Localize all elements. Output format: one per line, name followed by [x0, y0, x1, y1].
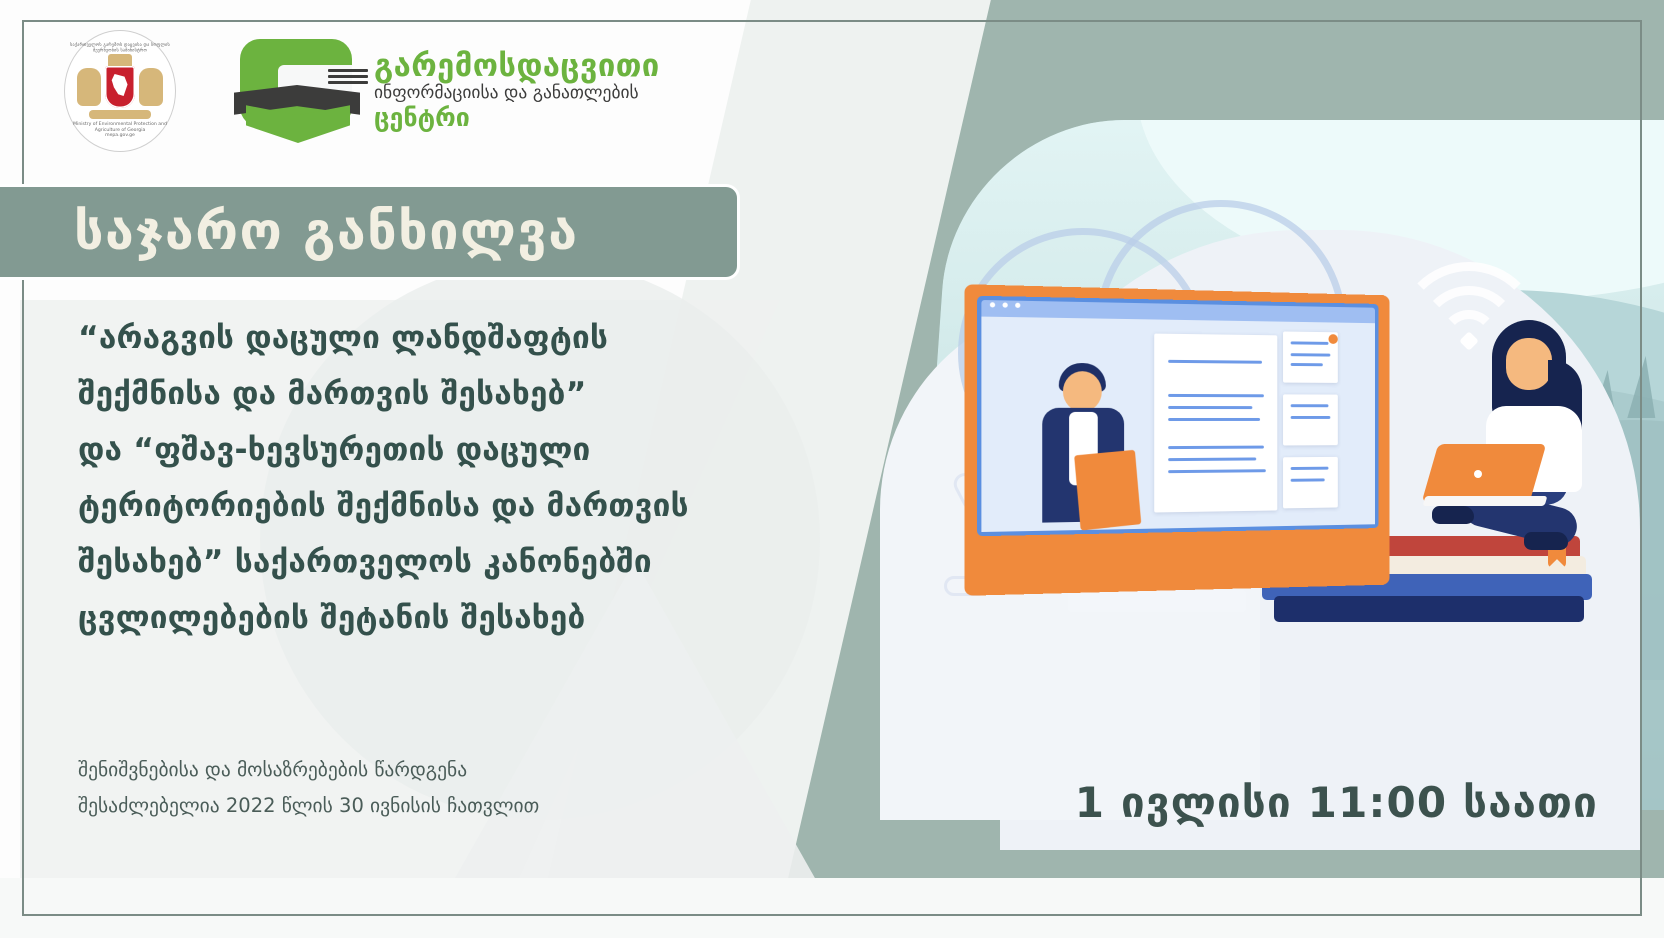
eiec-logo-mark [232, 39, 362, 143]
document-text-line [1168, 457, 1256, 461]
emblem-scroll [89, 110, 151, 119]
submission-note-line-1: შენიშვნებისა და მოსაზრებების წარდგენა [78, 752, 718, 788]
woman-face [1506, 338, 1552, 390]
document-text-line [1291, 404, 1329, 407]
document-card [1283, 457, 1338, 509]
woman-shoe [1524, 532, 1568, 550]
illustration [940, 250, 1664, 670]
window-dot-icon [1003, 302, 1008, 307]
emblem-lion-left [77, 68, 101, 106]
document-text-line [1168, 406, 1252, 409]
document-card [1283, 394, 1338, 445]
document-text-line [1168, 418, 1260, 421]
title-banner-wrap: საჯარო განხილვა [0, 184, 740, 280]
laptop [1422, 444, 1547, 502]
emblem-arc-text: საქართველოს გარემოს დაცვისა და სოფლის მე… [70, 43, 170, 53]
subject-text: “არაგვის დაცული ლანდშაფტის შექმნისა და მ… [78, 310, 718, 646]
logo-line-1: გარემოსდაცვითი [374, 50, 660, 82]
presenter-head [1063, 371, 1102, 412]
woman-shoe [1432, 506, 1474, 524]
status-dot-icon [1328, 334, 1337, 344]
laptop-base [1423, 496, 1548, 506]
document-text-line [1291, 353, 1331, 356]
subject-line: და “ფშავ-ხევსურეთის დაცული [78, 422, 718, 478]
subject-line: ცვლილებების შეტანის შესახებ [78, 590, 718, 646]
monitor-power-button[interactable] [1176, 552, 1198, 574]
subject-line: ტერიტორიების შექმნისა და მართვის [78, 478, 718, 534]
eiec-logo: გარემოსდაცვითი ინფორმაციისა და განათლები… [232, 39, 660, 143]
title-banner: საჯარო განხილვა [0, 184, 740, 280]
logo-bar [328, 81, 368, 84]
subject-line: შექმნისა და მართვის შესახებ” [78, 366, 718, 422]
subject-line: “არაგვის დაცული ლანდშაფტის [78, 310, 718, 366]
desktop-monitor [970, 290, 1400, 590]
submission-note: შენიშვნებისა და მოსაზრებების წარდგენა შე… [78, 752, 718, 824]
eiec-logo-text: გარემოსდაცვითი ინფორმაციისა და განათლები… [374, 50, 660, 132]
document-text-line [1168, 394, 1264, 397]
document-text-line [1291, 363, 1323, 366]
subject-line: შესახებ” საქართველოს კანონებში [78, 534, 718, 590]
book-navy [1274, 596, 1584, 622]
logo-bars-icon [328, 69, 368, 87]
header: საქართველოს გარემოს დაცვისა და სოფლის მე… [64, 30, 660, 152]
document-text-line [1168, 446, 1264, 450]
emblem-caption-en: Ministry of Environmental Protection and… [64, 122, 176, 133]
emblem-shield [105, 66, 135, 108]
monitor-stand-base [1068, 590, 1246, 612]
document-text-line [1291, 467, 1329, 470]
document-page [1154, 334, 1277, 513]
background-bottom-strip [0, 878, 1664, 938]
logo-line-2: ინფორმაციისა და განათლების [374, 83, 660, 104]
document-text-line [1291, 341, 1329, 344]
emblem-lion-right [139, 68, 163, 106]
document-text-line [1168, 469, 1266, 473]
emblem-crown [108, 54, 132, 66]
document-text-line [1291, 416, 1331, 419]
document-text-line [1291, 478, 1325, 481]
event-datetime: 1 ივლისი 11:00 საათი [1075, 778, 1598, 827]
poster-root: საქართველოს გარემოს დაცვისა და სოფლის მე… [0, 0, 1664, 938]
woman-with-laptop [1420, 320, 1620, 570]
ministry-emblem: საქართველოს გარემოს დაცვისა და სოფლის მე… [64, 30, 176, 152]
document-text-line [1168, 360, 1262, 364]
logo-bar [328, 69, 368, 72]
screen-content [981, 317, 1375, 532]
emblem-saint-george-icon [111, 74, 129, 96]
submission-note-line-2: შესაძლებელია 2022 წლის 30 ივნისის ჩათვლი… [78, 788, 718, 824]
logo-line-3: ცენტრი [374, 104, 660, 132]
logo-bar [328, 75, 368, 78]
laptop-logo-icon [1474, 470, 1482, 478]
window-dot-icon [1015, 303, 1020, 308]
page-title: საჯარო განხილვა [0, 202, 579, 262]
window-dot-icon [990, 302, 995, 307]
presenter-folder [1074, 450, 1141, 531]
monitor-screen [977, 296, 1379, 536]
emblem-caption: Ministry of Environmental Protection and… [64, 122, 176, 139]
emblem-caption-small: mepa.gov.ge [64, 133, 176, 139]
